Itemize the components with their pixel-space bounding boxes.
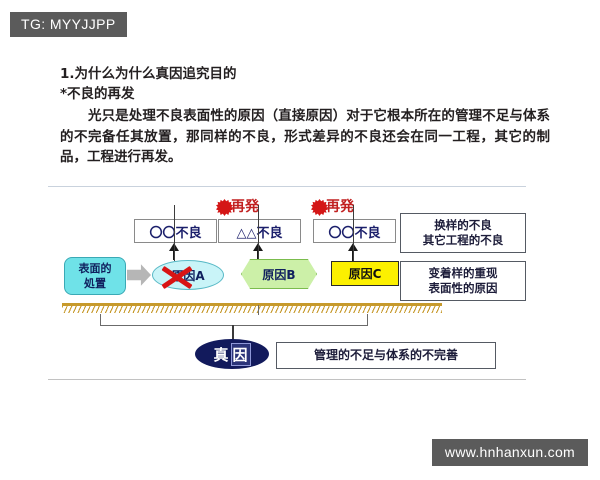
recurrence-marker-1: 再発 xyxy=(216,199,259,216)
defect-box-1: 〇〇不良 xyxy=(134,219,217,243)
cause-bracket xyxy=(100,314,368,326)
ground-hatching xyxy=(62,306,442,313)
true-cause-description-box: 管理的不足与体系的不完善 xyxy=(276,342,496,369)
recurrence-label: 再発 xyxy=(231,199,259,216)
cause-shape-b: 原因B xyxy=(241,259,317,289)
cause-label-a: 原因A xyxy=(153,261,223,289)
defect-box-3: 〇〇不良 xyxy=(313,219,396,243)
cause-label-b: 原因B xyxy=(242,260,316,288)
document-heading: 1.为什么为什么真因追究目的 xyxy=(60,64,550,84)
document-text-block: 1.为什么为什么真因追究目的 *不良的再发 光只是处理不良表面性的原因（直接原因… xyxy=(60,64,550,168)
connector-line-3 xyxy=(353,205,354,261)
true-cause-char-1: 真 xyxy=(213,344,229,365)
note-box-other-defects: 换样的不良 其它工程的不良 xyxy=(400,213,526,253)
recurrence-marker-2: 再発 xyxy=(311,199,354,216)
note-line-2: 其它工程的不良 xyxy=(423,233,504,248)
true-cause-ellipse: 真因 xyxy=(195,339,269,369)
true-cause-char-2: 因 xyxy=(231,343,251,366)
cause-label-c: 原因C xyxy=(332,262,398,285)
document-subheading: *不良的再发 xyxy=(60,84,550,104)
defect-box-2: △△不良 xyxy=(218,219,301,243)
recurrence-label: 再発 xyxy=(326,199,354,216)
block-arrow-right-icon xyxy=(127,263,151,287)
document-paragraph: 光只是处理不良表面性的原因（直接原因）对于它根本所在的管理不足与体系的不完备任其… xyxy=(60,106,550,168)
connector-line-1 xyxy=(174,205,175,261)
root-cause-diagram: 再発 再発 〇〇不良 △△不良 〇〇不良 换样的不良 其它工程的不良 变着样的重… xyxy=(48,186,526,380)
cause-shape-a: 原因A xyxy=(152,260,224,290)
note-line-1: 变着样的重现 xyxy=(429,266,498,281)
note-box-surface-causes: 变着样的重现 表面性的原因 xyxy=(400,261,526,301)
site-watermark: www.hnhanxun.com xyxy=(432,439,588,466)
surface-treatment-line-2: 処置 xyxy=(84,276,106,291)
note-line-1: 换样的不良 xyxy=(434,218,492,233)
diagram-canvas: 再発 再発 〇〇不良 △△不良 〇〇不良 换样的不良 其它工程的不良 变着样的重… xyxy=(48,187,526,379)
cause-shape-c: 原因C xyxy=(331,261,399,286)
surface-treatment-box: 表面的 処置 xyxy=(64,257,126,295)
tag-badge: TG: MYYJJPP xyxy=(10,12,127,37)
note-line-2: 表面性的原因 xyxy=(429,281,498,296)
connector-line-2 xyxy=(258,205,259,259)
surface-treatment-line-1: 表面的 xyxy=(79,261,112,276)
